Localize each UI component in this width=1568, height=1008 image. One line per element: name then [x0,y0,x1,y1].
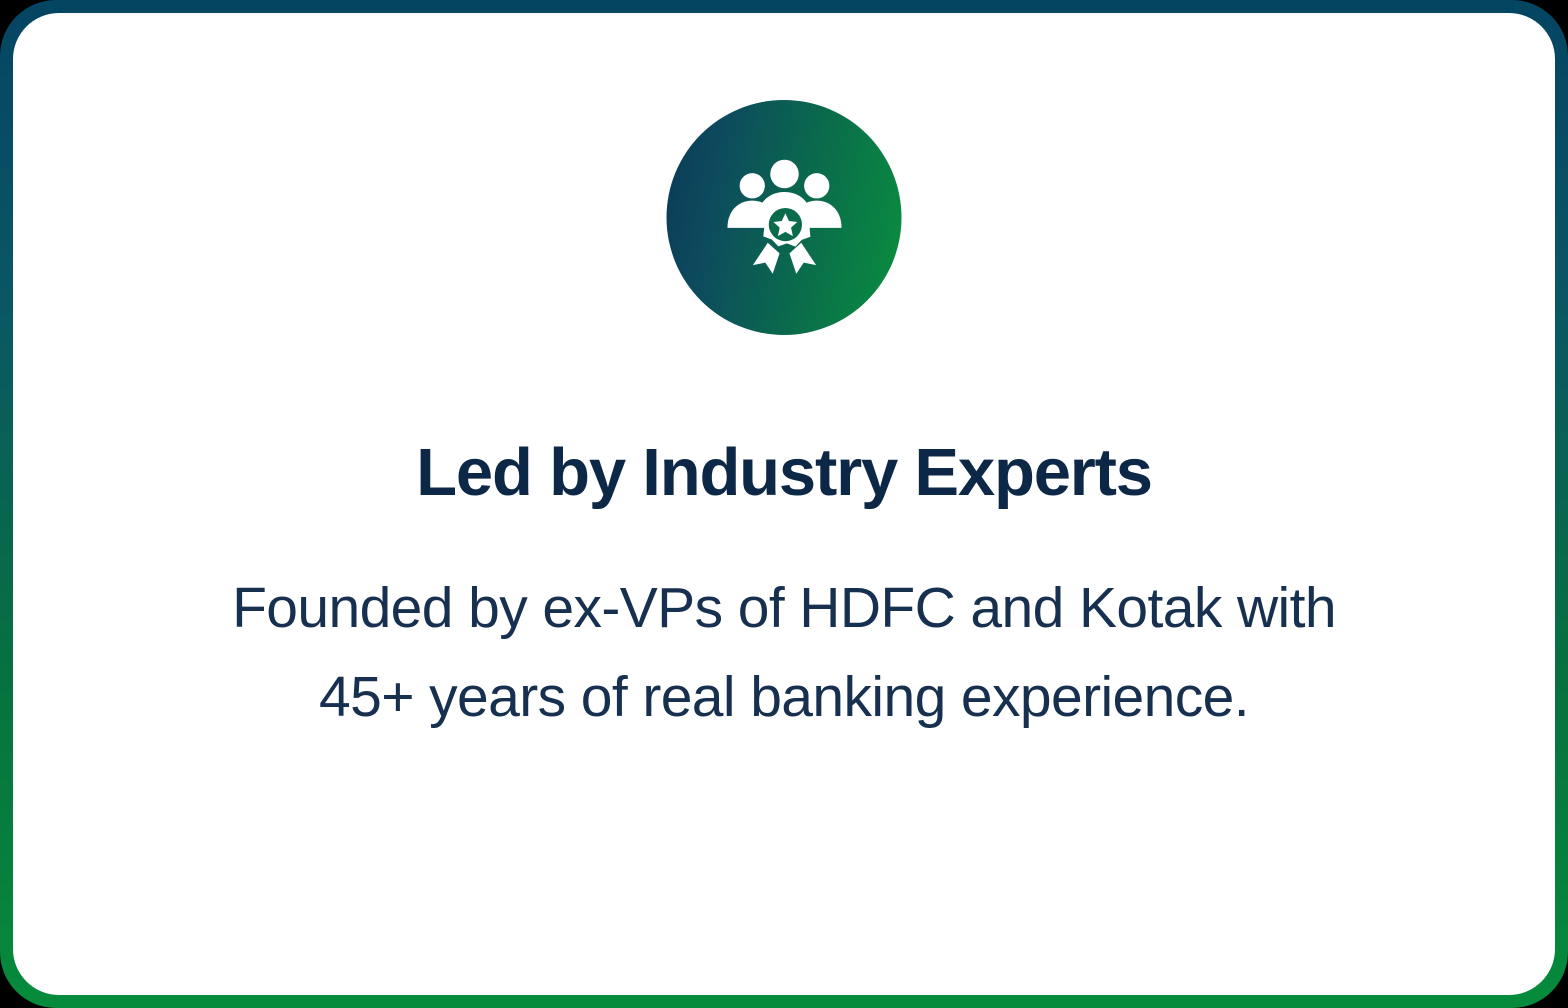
feature-card: Led by Industry Experts Founded by ex-VP… [0,0,1568,1008]
card-description: Founded by ex-VPs of HDFC and Kotak with… [73,564,1495,741]
page-title: Led by Industry Experts [73,438,1495,508]
feature-card-body: Led by Industry Experts Founded by ex-VP… [13,13,1555,995]
card-text-block: Led by Industry Experts Founded by ex-VP… [13,438,1555,741]
team-award-icon-badge [667,100,902,335]
team-award-icon [722,156,846,280]
card-description-line-2: 45+ years of real banking experience. [73,653,1495,741]
card-description-line-1: Founded by ex-VPs of HDFC and Kotak with [73,564,1495,652]
